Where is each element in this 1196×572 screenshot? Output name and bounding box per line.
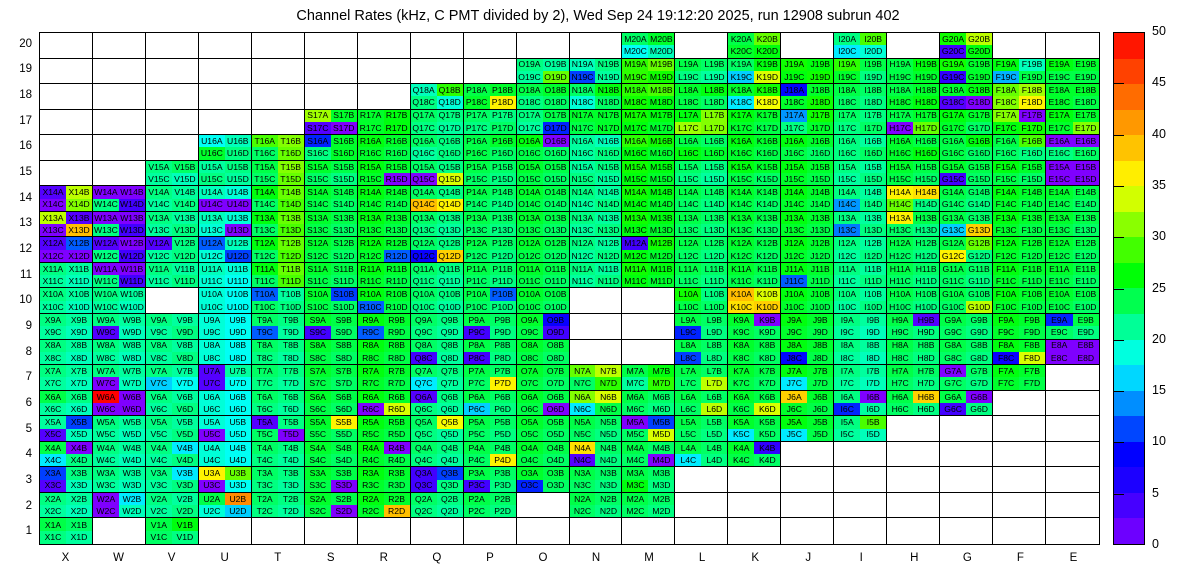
channel-subcell: N4B [595,442,621,454]
channel-subcell-empty [940,416,966,428]
heatmap-cell: V1AV1BV1CV1D [146,518,199,544]
heatmap-cell: J5AJ5BJ5CJ5D [781,416,834,442]
heatmap-cell: J17AJ17BJ17CJ17D [781,110,834,136]
channel-subcell: P11A [464,263,490,275]
heatmap-cell: U11AU11BU11CU11D [199,263,252,289]
channel-subcell: H8A [887,340,913,352]
channel-subcell: H16C [887,147,913,159]
channel-subcell: X7D [66,377,92,389]
heatmap-cell: O3AO3BO3CO3D [517,467,570,493]
channel-subcell-empty [40,45,66,57]
heatmap-cell: K13AK13BK13CK13D [728,212,781,238]
channel-subcell: G13D [966,224,992,236]
channel-subcell: E13C [1046,224,1072,236]
heatmap-cell-empty [993,467,1046,493]
channel-subcell: N13D [595,224,621,236]
channel-subcell-empty [93,147,119,159]
channel-subcell: E17A [1046,110,1072,122]
channel-subcell: I5A [834,416,860,428]
channel-subcell-empty [966,505,992,517]
channel-subcell: K11D [754,275,780,287]
channel-subcell: U13B [225,212,251,224]
heatmap-cell: X12AX12BX12CX12D [40,237,93,263]
channel-subcell: R15C [358,173,384,185]
channel-subcell: X11A [40,263,66,275]
channel-subcell: V7B [172,365,198,377]
channel-subcell: X12C [40,250,66,262]
channel-subcell: E16D [1073,147,1099,159]
channel-subcell-empty [728,505,754,517]
channel-subcell: O13B [543,212,569,224]
channel-subcell-empty [464,45,490,57]
x-axis-tick-label: M [622,552,676,564]
channel-subcell: G20A [940,33,966,45]
channel-subcell: G16D [966,147,992,159]
channel-subcell: H16B [913,135,939,147]
channel-subcell: H13A [887,212,913,224]
channel-subcell: L11D [701,275,727,287]
channel-subcell: V4B [172,442,198,454]
heatmap-cell-empty [993,493,1046,519]
heatmap-cell: M13AM13BM13CM13D [622,212,675,238]
channel-subcell-empty [1073,518,1099,531]
heatmap-cell: X14AX14BX14CX14D [40,186,93,212]
channel-subcell: V11D [172,275,198,287]
channel-subcell: U2B [225,493,251,505]
channel-subcell: G14B [966,186,992,198]
heatmap-cell: P11AP11BP11CP11D [464,263,517,289]
channel-subcell: R8C [358,352,384,364]
heatmap-cell: Q13AQ13BQ13CQ13D [411,212,464,238]
channel-subcell: E17D [1073,122,1099,134]
channel-subcell-empty [172,59,198,71]
heatmap-cell: G13AG13BG13CG13D [940,212,993,238]
channel-subcell-empty [199,96,225,108]
x-axis-tick-label: F [993,552,1047,564]
channel-subcell: G14A [940,186,966,198]
channel-subcell: R3D [384,480,410,492]
channel-subcell: V5C [146,429,172,441]
channel-subcell: K19C [728,71,754,83]
channel-subcell-empty [993,45,1019,57]
heatmap-cell-empty [940,518,993,544]
channel-subcell-empty [1019,454,1045,466]
colorbar-tick-label: 25 [1152,281,1166,295]
channel-subcell: M13C [622,224,648,236]
channel-subcell: M14A [622,186,648,198]
heatmap-cell-empty [675,493,728,519]
heatmap-cell: S5AS5BS5CS5D [305,416,358,442]
channel-subcell: R2D [384,505,410,517]
channel-subcell: X8C [40,352,66,364]
y-axis-tick-label: 13 [2,217,32,229]
heatmap-cell-empty [252,33,305,59]
channel-subcell-empty [252,96,278,108]
channel-subcell-empty [966,493,992,505]
channel-subcell: I11D [860,275,886,287]
channel-subcell: G10A [940,288,966,300]
channel-subcell: U2A [199,493,225,505]
heatmap-cell-empty [305,59,358,85]
channel-subcell: K9D [754,326,780,338]
channel-subcell: K5D [754,429,780,441]
channel-subcell: R10B [384,288,410,300]
heatmap-cell: V11AV11BV11CV11D [146,263,199,289]
channel-subcell: U3D [225,480,251,492]
heatmap-cell: W10AW10BW10CW10D [93,288,146,314]
channel-subcell: O12C [517,250,543,262]
channel-subcell-empty [225,96,251,108]
channel-subcell: R15D [384,173,410,185]
heatmap-cell: H17AH17BH17CH17D [887,110,940,136]
channel-subcell-empty [781,467,807,479]
channel-subcell: U9C [199,326,225,338]
channel-subcell: J6A [781,391,807,403]
channel-subcell: X9A [40,314,66,326]
colorbar-tick [1113,237,1124,238]
channel-subcell: J9C [781,326,807,338]
channel-subcell: I8C [834,352,860,364]
heatmap-cell-empty [40,59,93,85]
channel-subcell: P18A [464,84,490,96]
channel-subcell: N15A [570,161,596,173]
channel-subcell-empty [172,301,198,313]
channel-subcell: J15C [781,173,807,185]
heatmap-cell: S6AS6BS6CS6D [305,391,358,417]
channel-subcell: N11A [570,263,596,275]
channel-subcell: M19A [622,59,648,71]
channel-subcell: V11A [146,263,172,275]
heatmap-cell-empty [146,135,199,161]
channel-subcell-empty [887,416,913,428]
channel-subcell-empty [146,122,172,134]
channel-subcell: G10B [966,288,992,300]
x-axis-tick-label: N [569,552,623,564]
channel-subcell: F19B [1019,59,1045,71]
channel-subcell: N18A [570,84,596,96]
heatmap-cell: Q10AQ10BQ10CQ10D [411,288,464,314]
channel-subcell: O9C [517,326,543,338]
channel-subcell-empty [146,110,172,122]
heatmap-cell: J18AJ18BJ18CJ18D [781,84,834,110]
channel-subcell: Q2A [411,493,437,505]
channel-subcell-empty [40,33,66,45]
heatmap-cell: R13AR13BR13CR13D [358,212,411,238]
heatmap-cell: S17AS17BS17CS17D [305,110,358,136]
channel-subcell-empty [675,45,701,57]
y-axis-tick-label: 15 [2,166,32,178]
channel-subcell: H9A [887,314,913,326]
channel-subcell: E15A [1046,161,1072,173]
channel-subcell-empty [119,45,145,57]
channel-subcell: O14A [517,186,543,198]
channel-subcell-empty [807,442,833,454]
heatmap-cell: K12AK12BK12CK12D [728,237,781,263]
channel-subcell: P5C [464,429,490,441]
heatmap-cell: M19AM19BM19CM19D [622,59,675,85]
channel-subcell: V5D [172,429,198,441]
heatmap-cell: T10AT10BT10CT10D [252,288,305,314]
channel-subcell-empty [199,71,225,83]
channel-subcell-empty [93,45,119,57]
channel-subcell: X3D [66,480,92,492]
channel-subcell: G9A [940,314,966,326]
channel-subcell-empty [595,326,621,338]
channel-subcell: E8A [1046,340,1072,352]
channel-subcell: O5D [543,429,569,441]
channel-subcell: I16A [834,135,860,147]
channel-subcell: X13D [66,224,92,236]
channel-subcell: R5C [358,429,384,441]
x-axis-tick-label: G [940,552,994,564]
channel-subcell: E10C [1046,301,1072,313]
channel-subcell-empty [807,454,833,466]
heatmap-cell: O5AO5BO5CO5D [517,416,570,442]
channel-subcell-empty [807,480,833,492]
y-axis-tick-label: 20 [2,38,32,50]
channel-subcell: I10A [834,288,860,300]
channel-subcell: I9A [834,314,860,326]
channel-subcell-empty [807,33,833,45]
channel-subcell: R17C [358,122,384,134]
channel-subcell: E16C [1046,147,1072,159]
channel-subcell: L9C [675,326,701,338]
channel-subcell: V15C [146,173,172,185]
colorbar-segment [1114,110,1144,136]
channel-subcell: L17B [701,110,727,122]
channel-subcell: S13A [305,212,331,224]
heatmap-cell: W3AW3BW3CW3D [93,467,146,493]
channel-subcell: N6D [595,403,621,415]
channel-subcell: M7D [648,377,674,389]
heatmap-cell: N15AN15BN15CN15D [570,161,623,187]
channel-subcell: P18C [464,96,490,108]
channel-subcell: L16A [675,135,701,147]
channel-subcell: S5A [305,416,331,428]
channel-subcell: S4A [305,442,331,454]
channel-subcell-empty [940,442,966,454]
colorbar-tick-label: 40 [1152,127,1166,141]
channel-subcell: N14B [595,186,621,198]
channel-subcell: E19C [1046,71,1072,83]
channel-subcell: S6D [331,403,357,415]
channel-subcell-empty [1073,429,1099,441]
channel-subcell: L19B [701,59,727,71]
channel-subcell: Q3C [411,480,437,492]
channel-subcell: U5B [225,416,251,428]
channel-subcell: V11C [146,275,172,287]
channel-subcell-empty [225,518,251,531]
heatmap-cell: S16AS16BS16CS16D [305,135,358,161]
channel-subcell: V7D [172,377,198,389]
channel-subcell: R4D [384,454,410,466]
channel-subcell-empty [1073,467,1099,479]
heatmap-cell: T7AT7BT7CT7D [252,365,305,391]
channel-subcell-empty [701,531,727,544]
heatmap-cell: T13AT13BT13CT13D [252,212,305,238]
channel-subcell: T8C [252,352,278,364]
channel-subcell: W8B [119,340,145,352]
channel-subcell: L4D [701,454,727,466]
channel-subcell: L18D [701,96,727,108]
channel-subcell: J18C [781,96,807,108]
channel-subcell: M18A [622,84,648,96]
channel-subcell: N16B [595,135,621,147]
channel-subcell-empty [172,45,198,57]
heatmap-cell: I13AI13BI13CI13D [834,212,887,238]
channel-subcell-empty [781,480,807,492]
channel-subcell: S16A [305,135,331,147]
channel-subcell: P5A [464,416,490,428]
channel-subcell-empty [146,71,172,83]
heatmap-cell: P16AP16BP16CP16D [464,135,517,161]
channel-subcell: O17A [517,110,543,122]
heatmap-cell: M7AM7BM7CM7D [622,365,675,391]
heatmap-cell: W13AW13BW13CW13D [93,212,146,238]
heatmap-cell: L14AL14BL14CL14D [675,186,728,212]
channel-subcell: W3D [119,480,145,492]
channel-subcell: H17D [913,122,939,134]
channel-subcell: P8B [490,340,516,352]
channel-subcell-empty [595,518,621,531]
channel-subcell: X10D [66,301,92,313]
channel-subcell: S15C [305,173,331,185]
channel-subcell-empty [66,173,92,185]
x-axis-tick-label: P [463,552,517,564]
channel-subcell-empty [225,531,251,544]
channel-subcell: I8D [860,352,886,364]
channel-subcell: U2C [199,505,225,517]
heatmap-cell-empty [675,33,728,59]
channel-subcell-empty [437,71,463,83]
channel-subcell: K11C [728,275,754,287]
heatmap-cell-empty [887,518,940,544]
channel-subcell-empty [781,454,807,466]
heatmap-cell: W12AW12BW12CW12D [93,237,146,263]
channel-subcell: Q16B [437,135,463,147]
channel-subcell: I7A [834,365,860,377]
channel-subcell: R14A [358,186,384,198]
channel-subcell-empty [622,288,648,300]
x-axis-tick-label: R [357,552,411,564]
channel-subcell: M16C [622,147,648,159]
channel-subcell-empty [119,96,145,108]
channel-subcell: W7A [93,365,119,377]
heatmap-cell-empty [1046,467,1099,493]
channel-subcell: F8C [993,352,1019,364]
channel-subcell-empty [993,518,1019,531]
channel-subcell: R10C [358,301,384,313]
channel-subcell: I19C [834,71,860,83]
channel-subcell-empty [675,33,701,45]
channel-subcell: E14B [1073,186,1099,198]
channel-subcell: Q9A [411,314,437,326]
channel-subcell: E9B [1073,314,1099,326]
channel-subcell: T14C [252,199,278,211]
channel-subcell: K11B [754,263,780,275]
heatmap-cell: U15AU15BU15CU15D [199,161,252,187]
channel-subcell: G14C [940,199,966,211]
channel-subcell: R13A [358,212,384,224]
channel-subcell-empty [993,480,1019,492]
channel-subcell: V9A [146,314,172,326]
channel-subcell: M19B [648,59,674,71]
colorbar-tick [1113,340,1124,341]
channel-subcell: U8C [199,352,225,364]
channel-subcell: U14A [199,186,225,198]
channel-subcell: K18A [728,84,754,96]
channel-subcell-empty [887,33,913,45]
channel-subcell: J14B [807,186,833,198]
channel-subcell: T9D [278,326,304,338]
x-axis-tick-label: X [39,552,93,564]
channel-subcell-empty [331,33,357,45]
channel-subcell: K16D [754,147,780,159]
channel-subcell: W12B [119,237,145,249]
heatmap-cell: I12AI12BI12CI12D [834,237,887,263]
channel-subcell: V2D [172,505,198,517]
heatmap-cell: F7AF7BF7CF7D [993,365,1046,391]
heatmap-cell: M16AM16BM16CM16D [622,135,675,161]
heatmap-cell-empty [1046,518,1099,544]
channel-subcell: E19B [1073,59,1099,71]
heatmap-cell-empty [305,84,358,110]
channel-subcell: W3C [93,480,119,492]
channel-subcell: U14B [225,186,251,198]
channel-subcell: T12C [252,250,278,262]
y-axis-tick-label: 12 [2,243,32,255]
channel-subcell-empty [993,391,1019,403]
channel-subcell: U9D [225,326,251,338]
x-axis-tick-label: E [1046,552,1100,564]
channel-subcell: J18B [807,84,833,96]
channel-subcell: G7A [940,365,966,377]
channel-subcell: M13A [622,212,648,224]
heatmap-cell: I18AI18BI18CI18D [834,84,887,110]
channel-subcell: R16C [358,147,384,159]
channel-subcell-empty [913,518,939,531]
channel-subcell: S6B [331,391,357,403]
channel-subcell: Q7A [411,365,437,377]
channel-subcell: V3D [172,480,198,492]
channel-subcell: N16A [570,135,596,147]
channel-subcell: R11B [384,263,410,275]
channel-subcell: Q16C [411,147,437,159]
channel-subcell: Q11B [437,263,463,275]
heatmap-cell: K14AK14BK14CK14D [728,186,781,212]
channel-subcell: H12D [913,250,939,262]
channel-subcell: N3B [595,467,621,479]
channel-subcell: Q15A [411,161,437,173]
channel-subcell-empty [1019,403,1045,415]
channel-subcell: G18D [966,96,992,108]
channel-subcell: W6A [93,391,119,403]
channel-subcell: O10B [543,288,569,300]
channel-subcell: O3D [543,480,569,492]
channel-subcell: V7C [146,377,172,389]
channel-subcell: L18B [701,84,727,96]
channel-subcell-empty [40,71,66,83]
channel-subcell: L17D [701,122,727,134]
channel-subcell: T9A [252,314,278,326]
channel-subcell: U2D [225,505,251,517]
channel-subcell: I6C [834,403,860,415]
channel-subcell: T10C [252,301,278,313]
channel-subcell: Q4B [437,442,463,454]
channel-subcell: P5D [490,429,516,441]
heatmap-cell-empty [622,518,675,544]
channel-subcell: H8C [887,352,913,364]
